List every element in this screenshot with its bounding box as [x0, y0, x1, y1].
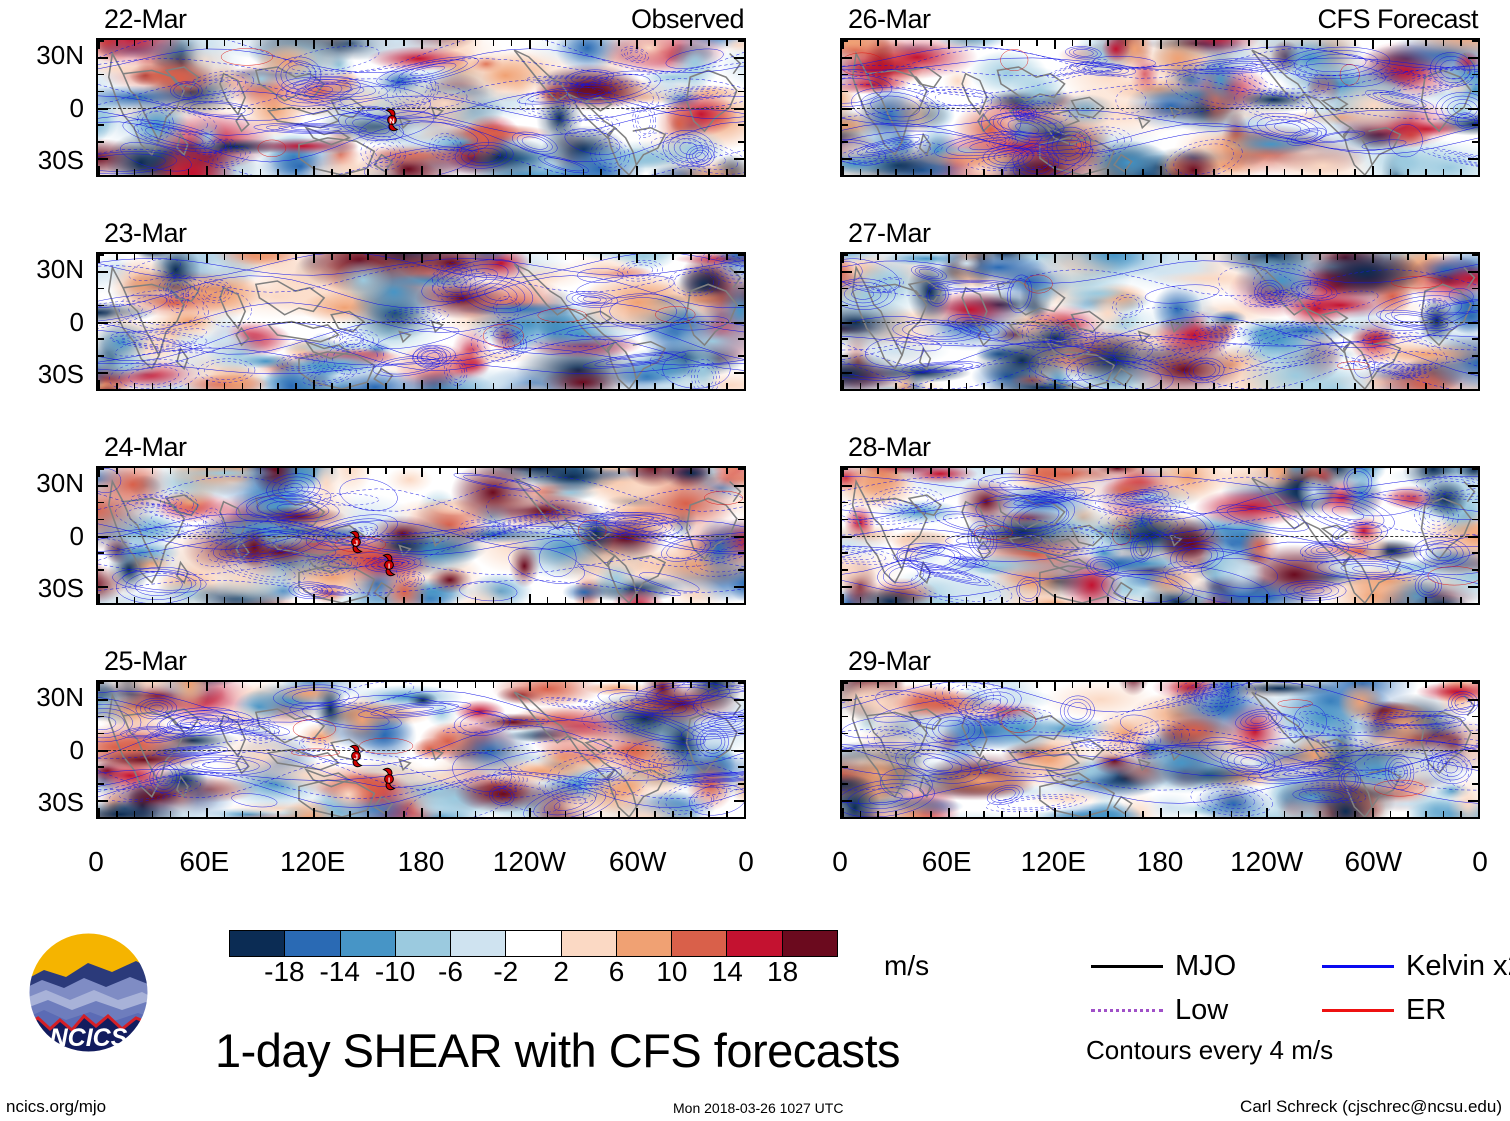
kelvin-line-swatch [1322, 965, 1394, 968]
y-tick-marks-left [98, 254, 105, 389]
equator-line [98, 536, 744, 537]
equator-line [842, 750, 1478, 751]
svg-text:N: N [389, 117, 394, 126]
y-tick-marks-right [737, 254, 744, 389]
x-axis-right: 060E120E180120W60W0 [840, 848, 1480, 878]
colorbar-unit-label: m/s [884, 952, 929, 980]
map-plot-area [840, 466, 1480, 605]
equator-line [842, 322, 1478, 323]
x-tick-label: 180 [398, 848, 445, 876]
equator-line [98, 750, 744, 751]
y-tick-label: 30S [4, 575, 84, 601]
x-tick-marks-bottom [98, 382, 744, 389]
y-tick-marks-left [842, 254, 849, 389]
y-tick-marks-right [737, 40, 744, 175]
low-line-swatch [1091, 1009, 1163, 1012]
legend-label-er: ER [1406, 996, 1446, 1025]
tropical-cyclone-marker[interactable]: N [383, 108, 400, 133]
equator-line [842, 108, 1478, 109]
x-tick-label: 120E [280, 848, 345, 876]
panel-24-mar: 24-MarJI30N030S [96, 436, 746, 605]
y-tick-marks-left [842, 40, 849, 175]
y-tick-marks-left [98, 682, 105, 817]
y-tick-marks-right [1471, 468, 1478, 603]
map-plot-area [840, 38, 1480, 177]
panel-25-mar: 25-MarJI30N030S [96, 650, 746, 819]
y-tick-label: 30S [4, 361, 84, 387]
panel-date-label: 24-Mar [104, 434, 187, 461]
x-tick-label: 120E [1021, 848, 1086, 876]
panel-date-label: 23-Mar [104, 220, 187, 247]
colorbar: -18-14-10-6-226101418 [229, 930, 838, 991]
legend-label-kelvin: Kelvin x2 [1406, 952, 1510, 981]
x-tick-label: 60E [179, 848, 229, 876]
y-tick-label: 30N [4, 256, 84, 282]
legend-item-er: ER [1322, 996, 1446, 1025]
x-tick-marks-top [98, 682, 744, 689]
colorbar-tick-label: 6 [609, 957, 625, 987]
x-tick-label: 60E [922, 848, 972, 876]
contour-interval-note: Contours every 4 m/s [1086, 1037, 1333, 1063]
colorbar-bin-2 [341, 931, 396, 956]
colorbar-tick-label: 14 [712, 957, 743, 987]
colorbar-tick-label: -6 [438, 957, 463, 987]
colorbar-swatches [229, 930, 838, 957]
panel-date-label: 22-Mar [104, 6, 187, 33]
colorbar-tick-label: 2 [553, 957, 569, 987]
colorbar-tick-label: 10 [656, 957, 687, 987]
colorbar-bin-7 [617, 931, 672, 956]
svg-text:J: J [354, 752, 358, 761]
colorbar-bin-8 [672, 931, 727, 956]
tropical-cyclone-marker[interactable]: J [348, 529, 365, 554]
equator-line [842, 536, 1478, 537]
colorbar-tick-labels: -18-14-10-6-226101418 [229, 957, 838, 991]
x-tick-label: 180 [1137, 848, 1184, 876]
colorbar-bin-1 [285, 931, 340, 956]
tropical-cyclone-marker[interactable]: I [380, 766, 397, 791]
tropical-cyclone-marker[interactable]: J [348, 743, 365, 768]
y-tick-label: 30N [4, 42, 84, 68]
panel-22-mar: 22-MarObservedN30N030S [96, 8, 746, 177]
legend-item-mjo: MJO [1091, 952, 1236, 981]
panel-date-label: 28-Mar [848, 434, 931, 461]
y-tick-label: 30S [4, 789, 84, 815]
y-tick-label: 0 [4, 523, 84, 549]
er-line-swatch [1322, 1009, 1394, 1012]
mjo-line-swatch [1091, 965, 1163, 968]
y-tick-marks-right [1471, 254, 1478, 389]
ncics-logo-text: NCICS [50, 1024, 128, 1052]
panel-29-mar: 29-Mar [840, 650, 1480, 819]
x-tick-label: 120W [1230, 848, 1303, 876]
x-tick-label: 0 [832, 848, 848, 876]
x-tick-marks-top [98, 468, 744, 475]
y-tick-label: 0 [4, 309, 84, 335]
figure-title: 1-day SHEAR with CFS forecasts [215, 1027, 900, 1074]
colorbar-bin-4 [451, 931, 506, 956]
panel-date-label: 25-Mar [104, 648, 187, 675]
column-header-label: Observed [631, 6, 744, 33]
y-tick-marks-left [842, 682, 849, 817]
colorbar-bin-6 [562, 931, 617, 956]
y-tick-marks-right [1471, 40, 1478, 175]
panel-date-label: 26-Mar [848, 6, 931, 33]
x-tick-marks-top [98, 254, 744, 261]
y-tick-label: 0 [4, 737, 84, 763]
colorbar-tick-label: -2 [493, 957, 518, 987]
y-tick-label: 30N [4, 684, 84, 710]
y-tick-label: 0 [4, 95, 84, 121]
svg-text:I: I [388, 561, 390, 570]
footer-author: Carl Schreck (cjschrec@ncsu.edu) [1240, 1098, 1502, 1115]
y-tick-label: 30N [4, 470, 84, 496]
equator-line [98, 108, 744, 109]
x-tick-marks-bottom [98, 596, 744, 603]
y-tick-marks-right [1471, 682, 1478, 817]
colorbar-tick-label: -18 [264, 957, 304, 987]
y-tick-marks-left [98, 468, 105, 603]
legend-label-low: Low [1175, 996, 1228, 1025]
svg-text:J: J [354, 538, 358, 547]
map-plot-area [96, 252, 746, 391]
ncics-logo: NCICS [26, 930, 151, 1055]
x-tick-marks-top [842, 40, 1478, 47]
map-plot-area: JI [96, 680, 746, 819]
x-tick-marks-bottom [842, 810, 1478, 817]
y-tick-marks-right [737, 468, 744, 603]
panel-28-mar: 28-Mar [840, 436, 1480, 605]
panel-23-mar: 23-Mar30N030S [96, 222, 746, 391]
y-tick-marks-left [98, 40, 105, 175]
colorbar-bin-5 [506, 931, 561, 956]
colorbar-tick-label: 18 [767, 957, 798, 987]
legend-label-mjo: MJO [1175, 952, 1236, 981]
x-tick-label: 0 [1472, 848, 1488, 876]
x-tick-marks-bottom [842, 596, 1478, 603]
x-tick-marks-bottom [98, 810, 744, 817]
x-tick-marks-bottom [842, 382, 1478, 389]
colorbar-bin-3 [396, 931, 451, 956]
panel-27-mar: 27-Mar [840, 222, 1480, 391]
panel-date-label: 29-Mar [848, 648, 931, 675]
panel-date-label: 27-Mar [848, 220, 931, 247]
map-plot-area: JI [96, 466, 746, 605]
colorbar-bin-0 [230, 931, 285, 956]
colorbar-tick-label: -14 [319, 957, 359, 987]
x-tick-label: 120W [493, 848, 566, 876]
x-tick-label: 0 [738, 848, 754, 876]
colorbar-bin-10 [783, 931, 837, 956]
equator-line [98, 322, 744, 323]
x-tick-label: 0 [88, 848, 104, 876]
y-tick-label: 30S [4, 147, 84, 173]
panel-26-mar: 26-MarCFS Forecast [840, 8, 1480, 177]
x-tick-marks-top [842, 682, 1478, 689]
colorbar-bin-9 [727, 931, 782, 956]
y-tick-marks-left [842, 468, 849, 603]
legend-item-kelvin: Kelvin x2 [1322, 952, 1510, 981]
map-plot-area [840, 680, 1480, 819]
footer-timestamp: Mon 2018-03-26 1027 UTC [673, 1100, 843, 1117]
x-tick-marks-top [98, 40, 744, 47]
map-plot-area [840, 252, 1480, 391]
map-plot-area: N [96, 38, 746, 177]
svg-text:I: I [388, 775, 390, 784]
legend-item-low: Low [1091, 996, 1228, 1025]
x-tick-marks-bottom [842, 168, 1478, 175]
x-axis-left: 060E120E180120W60W0 [96, 848, 746, 878]
x-tick-label: 60W [609, 848, 667, 876]
y-tick-marks-right [737, 682, 744, 817]
colorbar-tick-label: -10 [375, 957, 415, 987]
x-tick-marks-top [842, 254, 1478, 261]
x-tick-marks-bottom [98, 168, 744, 175]
x-tick-marks-top [842, 468, 1478, 475]
x-tick-label: 60W [1345, 848, 1403, 876]
footer-site-link[interactable]: ncics.org/mjo [6, 1098, 106, 1115]
column-header-label: CFS Forecast [1317, 6, 1478, 33]
tropical-cyclone-marker[interactable]: I [380, 552, 397, 577]
